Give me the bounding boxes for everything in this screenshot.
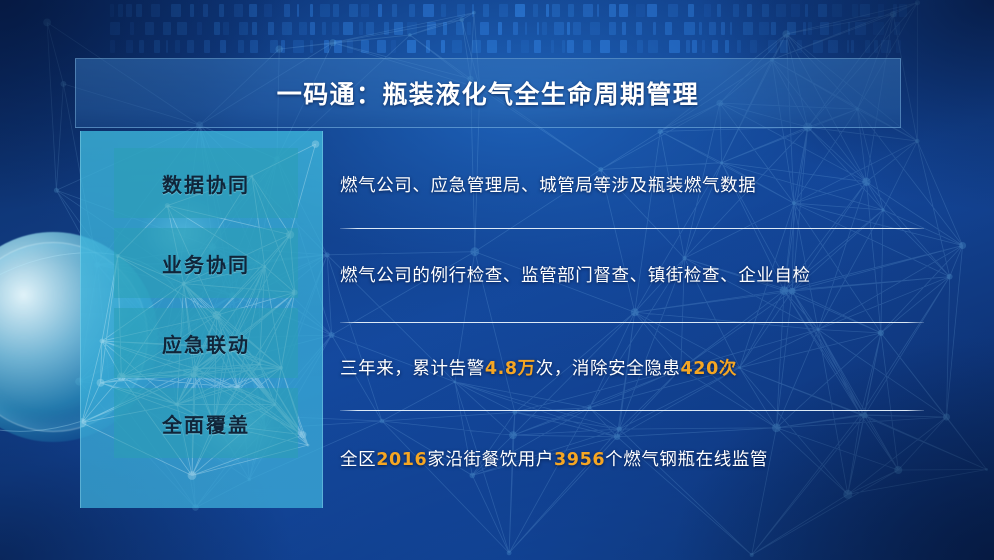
content-row-coverage: 全区2016家沿街餐饮用户3956个燃气钢瓶在线监管 [340,436,924,480]
category-label: 全面覆盖 [162,409,250,438]
slide-root: 一码通：瓶装液化气全生命周期管理 数据协同 业务协同 应急联动 全面覆盖 燃气公… [0,0,994,560]
content-row-emergency: 三年来，累计告警4.8万次，消除安全隐患420次 [340,345,924,389]
category-label: 数据协同 [162,169,250,198]
content-row-text: 燃气公司的例行检查、监管部门督查、镇街检查、企业自检 [340,262,811,287]
content-row-data-collab: 燃气公司、应急管理局、城管局等涉及瓶装燃气数据 [340,162,924,206]
page-title: 一码通：瓶装液化气全生命周期管理 [277,75,699,111]
category-item-3[interactable]: 全面覆盖 [114,388,298,458]
content-row-text: 全区2016家沿街餐饮用户3956个燃气钢瓶在线监管 [340,446,768,471]
category-item-1[interactable]: 业务协同 [114,228,298,298]
category-item-0[interactable]: 数据协同 [114,148,298,218]
category-label: 业务协同 [162,249,250,278]
slide-title-bar: 一码通：瓶装液化气全生命周期管理 [75,58,901,128]
category-panel: 数据协同 业务协同 应急联动 全面覆盖 [80,131,323,508]
content-rows: 燃气公司、应急管理局、城管局等涉及瓶装燃气数据 燃气公司的例行检查、监管部门督查… [340,140,924,510]
category-list: 数据协同 业务协同 应急联动 全面覆盖 [114,148,298,468]
content-row-text: 三年来，累计告警4.8万次，消除安全隐患420次 [340,355,737,380]
category-item-2[interactable]: 应急联动 [114,308,298,378]
row-divider-1 [340,228,924,229]
category-label: 应急联动 [162,329,250,358]
content-row-business-collab: 燃气公司的例行检查、监管部门督查、镇街检查、企业自检 [340,252,924,296]
row-divider-2 [340,322,924,323]
row-divider-3 [340,410,924,411]
content-row-text: 燃气公司、应急管理局、城管局等涉及瓶装燃气数据 [340,172,756,197]
